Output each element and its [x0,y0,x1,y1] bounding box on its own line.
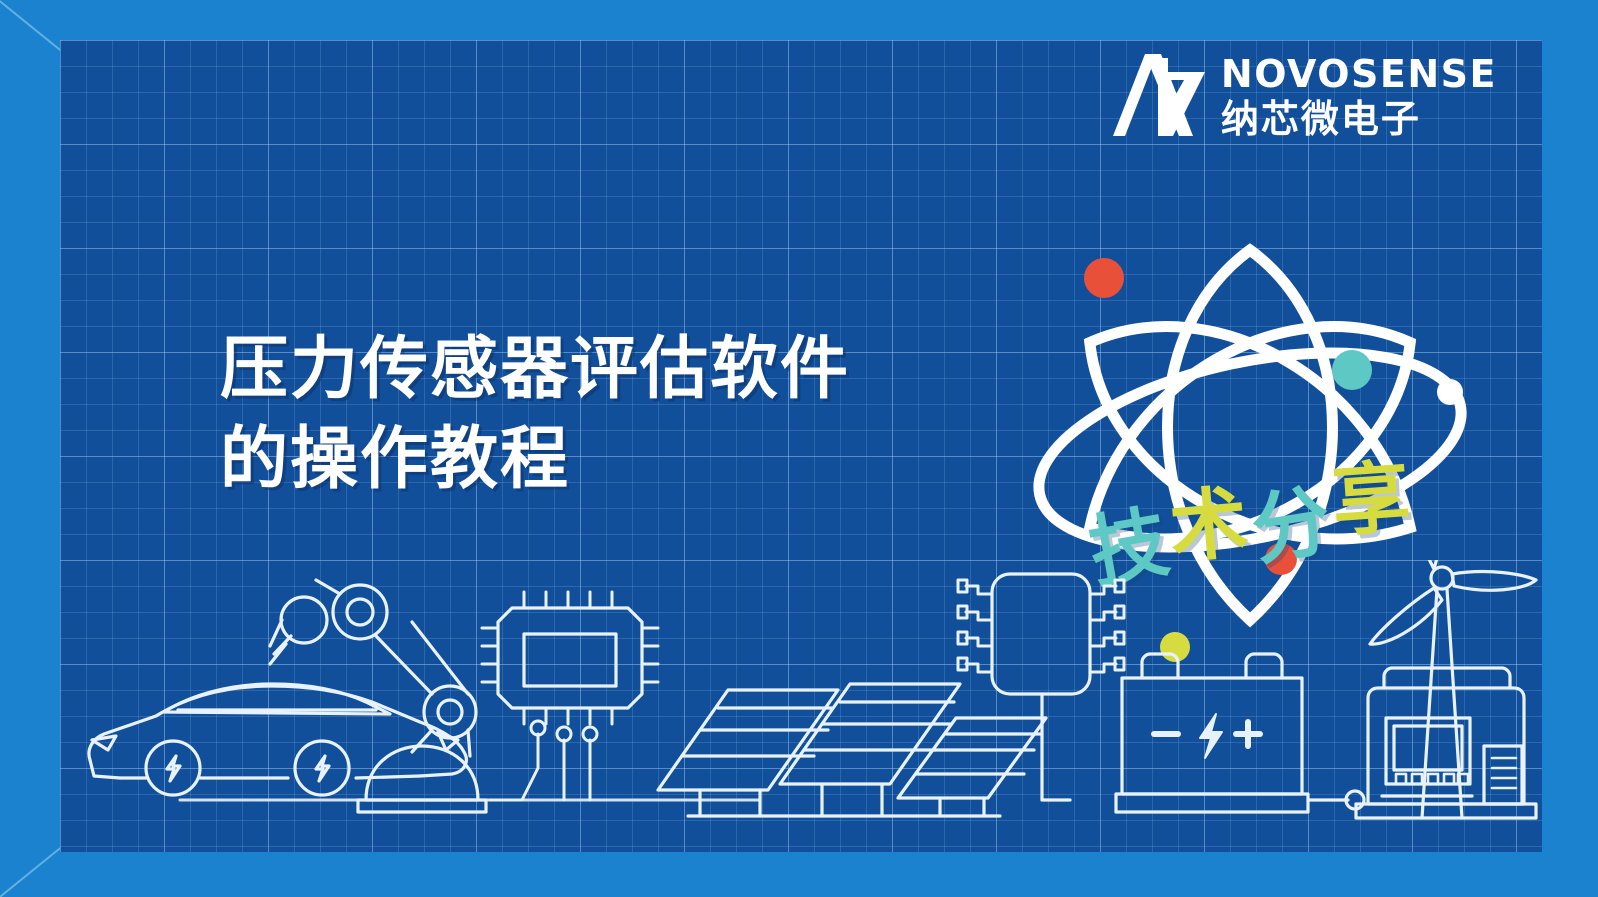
pcb-trace [490,721,597,800]
solar-panel-icon [658,684,1046,816]
badge-char-4: 享 [1330,458,1417,542]
battery-bolt-mark [1200,714,1222,758]
car-bolt-rear [316,756,329,781]
electron-teal-right [1332,350,1372,390]
blueprint-grid-panel: NOVOSENSE 纳芯微电子 压力传感器评估软件 的操作教程 [60,40,1542,852]
car-bolt-front [167,756,180,781]
electron-white-right [1437,379,1463,405]
cpu-chip-icon [482,592,658,724]
logo-chinese-name: 纳芯微电子 [1221,100,1497,138]
logo-text-block: NOVOSENSE 纳芯微电子 [1221,55,1497,138]
electron-red-top [1084,258,1124,298]
industry-line-art-scene [60,560,1542,830]
novosense-n-mark-icon [1111,52,1207,140]
logo-wordmark: NOVOSENSE [1221,55,1497,93]
badge-char-2: 术 [1167,484,1256,569]
scene-illustration [60,560,1542,830]
charging-station-icon [1356,668,1536,818]
battery-icon [1116,654,1308,812]
badge-char-3: 分 [1247,481,1340,571]
presentation-slide: NOVOSENSE 纳芯微电子 压力传感器评估软件 的操作教程 [0,0,1598,897]
ic-package-icon [958,574,1124,800]
page-title: 压力传感器评估软件 的操作教程 [220,325,850,505]
novosense-logo[interactable]: NOVOSENSE 纳芯微电子 [1111,52,1497,140]
electric-car-icon [89,684,466,795]
